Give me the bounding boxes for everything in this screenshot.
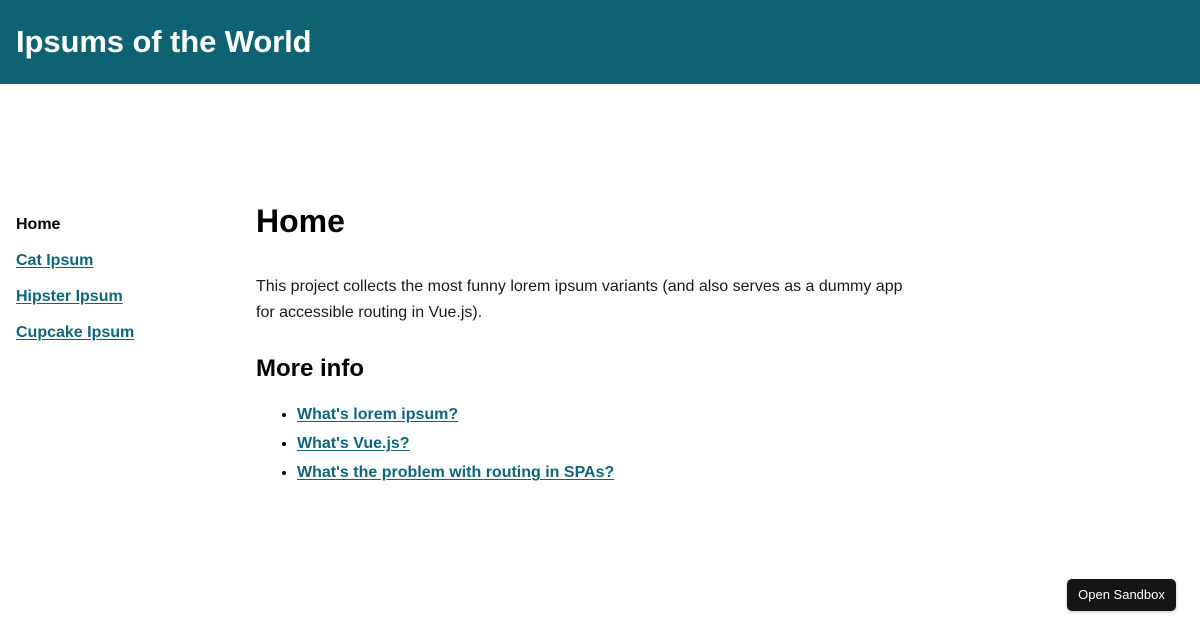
more-info-heading: More info [256,354,1160,383]
list-item: What's the problem with routing in SPAs? [297,462,1160,484]
link-what-is-vuejs[interactable]: What's Vue.js? [297,435,410,452]
sidebar-item-cat-ipsum[interactable]: Cat Ipsum [16,251,256,270]
list-item: What's Vue.js? [297,433,1160,455]
main-content: Home This project collects the most funn… [256,84,1200,491]
page-body: Home Cat Ipsum Hipster Ipsum Cupcake Ips… [0,84,1200,491]
sidebar-nav: Home Cat Ipsum Hipster Ipsum Cupcake Ips… [16,215,256,342]
more-info-list: What's lorem ipsum? What's Vue.js? What'… [256,404,1160,484]
sidebar-item-cupcake-ipsum[interactable]: Cupcake Ipsum [16,323,256,342]
link-routing-problem-spas[interactable]: What's the problem with routing in SPAs? [297,464,614,481]
page-title: Home [256,202,1160,240]
site-header: Ipsums of the World [0,0,1200,84]
list-item: What's lorem ipsum? [297,404,1160,426]
sidebar-item-hipster-ipsum[interactable]: Hipster Ipsum [16,287,256,306]
intro-paragraph: This project collects the most funny lor… [256,274,911,326]
open-sandbox-button[interactable]: Open Sandbox [1067,579,1176,611]
link-what-is-lorem-ipsum[interactable]: What's lorem ipsum? [297,406,458,423]
site-title: Ipsums of the World [16,25,311,59]
sidebar-item-home[interactable]: Home [16,215,256,234]
sidebar: Home Cat Ipsum Hipster Ipsum Cupcake Ips… [0,84,256,359]
